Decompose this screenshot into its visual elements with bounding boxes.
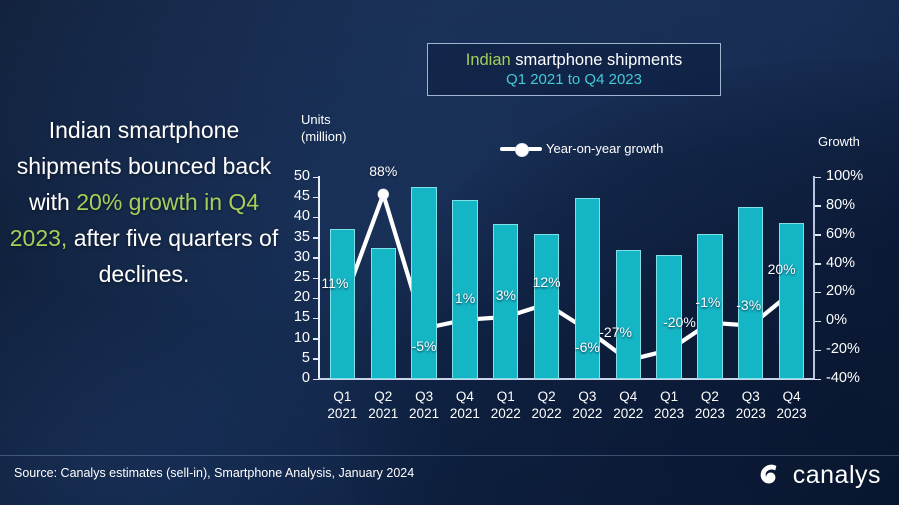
- right-tick: [815, 263, 821, 265]
- right-tick: [815, 205, 821, 207]
- growth-label-q3-2023: -3%: [736, 297, 761, 313]
- x-axis-label-q3-2022: Q32022: [567, 388, 608, 422]
- growth-point-q2-2021: [378, 189, 388, 199]
- x-axis-label-q3-2021: Q32021: [404, 388, 445, 422]
- left-tick: [313, 257, 319, 259]
- left-tick: [313, 298, 319, 300]
- legend-label: Year-on-year growth: [546, 141, 663, 156]
- chart-legend: Year-on-year growth: [500, 141, 663, 156]
- growth-label-q2-2022: 12%: [533, 274, 561, 290]
- right-tick-label: 100%: [826, 168, 886, 184]
- growth-label-q2-2023: -1%: [695, 294, 720, 310]
- x-axis-label-q2-2022: Q22022: [526, 388, 567, 422]
- x-axis-label-q4-2021: Q42021: [445, 388, 486, 422]
- chart-title-box: Indian smartphone shipments Q1 2021 to Q…: [427, 43, 721, 96]
- right-tick: [815, 292, 821, 294]
- left-axis-title-line2: (million): [301, 128, 347, 145]
- right-tick-label: -20%: [826, 341, 886, 357]
- narrative-post: after five quarters of declines.: [67, 225, 278, 287]
- right-tick: [815, 321, 821, 323]
- growth-label-q4-2023: 20%: [768, 261, 796, 277]
- left-tick-label: 40: [276, 208, 310, 224]
- bar-q4-2023: [779, 223, 804, 379]
- left-tick-label: 5: [276, 350, 310, 366]
- right-tick: [815, 379, 821, 381]
- growth-label-q1-2022: 3%: [496, 287, 516, 303]
- left-tick: [313, 318, 319, 320]
- left-tick: [313, 217, 319, 219]
- right-tick-label: 0%: [826, 312, 886, 328]
- left-tick-label: 20: [276, 289, 310, 305]
- left-tick: [313, 338, 319, 340]
- bar-q1-2021: [330, 229, 355, 379]
- canalys-logo: canalys: [754, 460, 881, 490]
- legend-line-marker-icon: [500, 147, 542, 151]
- bar-q2-2022: [534, 234, 559, 379]
- narrative-text: Indian smartphone shipments bounced back…: [8, 112, 280, 292]
- chart-title-emphasis: Indian: [466, 51, 511, 69]
- bar-q2-2021: [371, 248, 396, 379]
- canalys-mark-icon: [754, 460, 784, 490]
- plot-area: [322, 177, 812, 379]
- left-tick: [313, 197, 319, 199]
- right-axis-title: Growth: [818, 134, 860, 149]
- left-tick-label: 35: [276, 229, 310, 245]
- canalys-wordmark: canalys: [793, 461, 881, 490]
- left-tick-label: 30: [276, 249, 310, 265]
- source-note: Source: Canalys estimates (sell-in), Sma…: [14, 466, 414, 480]
- x-axis-label-q4-2023: Q42023: [771, 388, 812, 422]
- right-tick: [815, 177, 821, 179]
- right-tick: [815, 234, 821, 236]
- left-tick-label: 45: [276, 188, 310, 204]
- right-tick-label: 60%: [826, 226, 886, 242]
- growth-label-q1-2023: -20%: [663, 314, 696, 330]
- x-axis-label-q1-2022: Q12022: [485, 388, 526, 422]
- growth-label-q2-2021: 88%: [369, 163, 397, 179]
- left-axis-title-line1: Units: [301, 111, 347, 128]
- left-tick: [313, 358, 319, 360]
- chart-title: Indian smartphone shipments: [466, 50, 682, 70]
- left-tick: [313, 278, 319, 280]
- right-tick: [815, 350, 821, 352]
- growth-label-q1-2021: 11%: [321, 275, 348, 291]
- x-axis-label-q1-2023: Q12023: [649, 388, 690, 422]
- x-axis-label-q4-2022: Q42022: [608, 388, 649, 422]
- left-tick-label: 15: [276, 309, 310, 325]
- growth-label-q4-2022: -27%: [599, 324, 632, 340]
- bar-q3-2023: [738, 207, 763, 380]
- right-tick-label: -40%: [826, 370, 886, 386]
- x-axis-label-q2-2023: Q22023: [690, 388, 731, 422]
- growth-label-q3-2022: -6%: [575, 339, 600, 355]
- x-axis-label-q1-2021: Q12021: [322, 388, 363, 422]
- chart-title-rest: smartphone shipments: [511, 51, 683, 69]
- left-tick: [313, 237, 319, 239]
- right-tick-label: 40%: [826, 255, 886, 271]
- chart-subtitle: Q1 2021 to Q4 2023: [506, 70, 642, 89]
- left-tick: [313, 379, 319, 381]
- x-axis-label-q2-2021: Q22021: [363, 388, 404, 422]
- left-tick-label: 0: [276, 370, 310, 386]
- growth-polyline: [342, 194, 791, 360]
- left-tick-label: 50: [276, 168, 310, 184]
- slide: Indian smartphone shipments bounced back…: [0, 0, 899, 505]
- left-axis-title: Units (million): [301, 111, 347, 145]
- right-tick-label: 20%: [826, 283, 886, 299]
- x-axis-label-q3-2023: Q32023: [730, 388, 771, 422]
- growth-label-q4-2021: 1%: [455, 290, 475, 306]
- left-tick-label: 10: [276, 330, 310, 346]
- left-tick: [313, 177, 319, 179]
- right-tick-label: 80%: [826, 197, 886, 213]
- left-tick-label: 25: [276, 269, 310, 285]
- footer-divider: [0, 455, 899, 456]
- bar-q4-2022: [616, 250, 641, 379]
- growth-label-q3-2021: -5%: [412, 338, 437, 354]
